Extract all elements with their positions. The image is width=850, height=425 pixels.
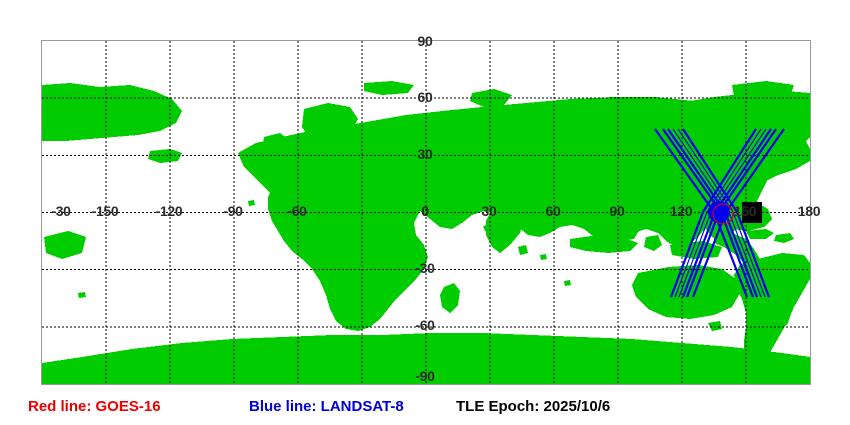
- land-island-pacific-a: [540, 254, 547, 260]
- land-island-madeira: [248, 200, 255, 206]
- land-tasmania: [708, 321, 722, 331]
- lat-label-90: 90: [418, 34, 433, 48]
- land-greenland: [42, 83, 182, 141]
- lat-label-30: 30: [418, 147, 433, 161]
- land-africa: [268, 177, 428, 331]
- lon-label-60: 60: [546, 204, 561, 218]
- land-hispaniola: [774, 233, 794, 243]
- lon-label-90: 90: [610, 204, 625, 218]
- lon-label-120: 120: [670, 204, 692, 218]
- land-svalbard: [364, 81, 414, 95]
- lon-label-m90: -90: [223, 204, 242, 218]
- land-sulawesi: [644, 235, 662, 251]
- lat-label-m60: -60: [415, 318, 434, 332]
- lon-label-m60: -60: [287, 204, 306, 218]
- lon-label-30: 30: [482, 204, 497, 218]
- lat-label-60: 60: [418, 90, 433, 104]
- land-island-pacific-b: [564, 280, 571, 286]
- lat-label-m30: -30: [415, 261, 434, 275]
- land-island-atlantic-s: [78, 292, 86, 298]
- land-iceland: [148, 149, 182, 163]
- lon-label-m30: -30: [51, 204, 70, 218]
- land-island-falkland: [44, 231, 86, 259]
- legend: Red line: GOES-16 Blue line: LANDSAT-8 T…: [0, 396, 850, 420]
- lon-label-0: 0: [421, 204, 429, 218]
- lon-label-m150: -150: [92, 204, 119, 218]
- land-cuba: [746, 229, 774, 239]
- legend-tle-epoch: TLE Epoch: 2025/10/6: [456, 396, 610, 418]
- satellite-track-map-page: 90 60 30 0 -30 -60 -90 -30 0 30 60 90 12…: [0, 0, 850, 425]
- land-island-srilanka: [518, 245, 528, 255]
- lon-label-m120: -120: [156, 204, 183, 218]
- legend-blue-line: Blue line: LANDSAT-8: [249, 396, 404, 418]
- lat-label-m90: -90: [415, 369, 434, 383]
- lon-label-150: 150: [734, 204, 756, 218]
- lon-label-180: 180: [798, 204, 820, 218]
- legend-red-line: Red line: GOES-16: [28, 396, 161, 418]
- land-madagascar: [440, 283, 460, 313]
